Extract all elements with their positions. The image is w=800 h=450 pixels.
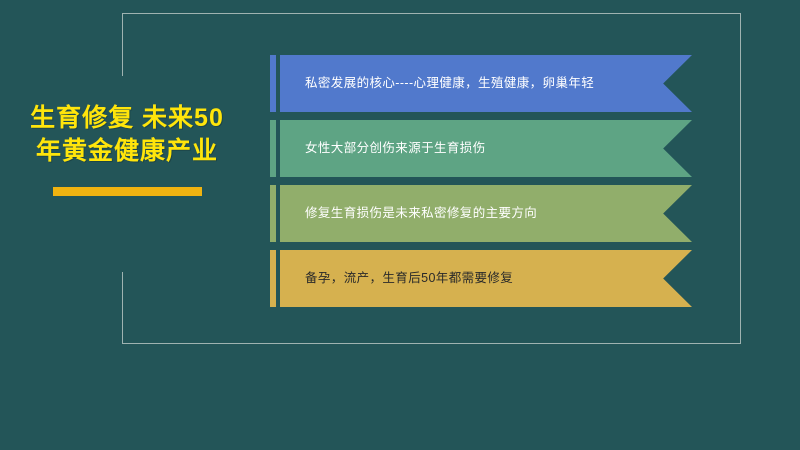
presentation-slide: 生育修复 未来50年黄金健康产业 私密发展的核心----心理健康，生殖健康，卵巢… [0, 0, 800, 450]
ribbon-label: 备孕，流产，生育后50年都需要修复 [280, 271, 513, 286]
ribbon-tab-accent [270, 185, 276, 242]
slide-title: 生育修复 未来50年黄金健康产业 [22, 102, 232, 168]
ribbon-label: 女性大部分创伤来源于生育损伤 [280, 141, 486, 156]
ribbon-tab-accent [270, 55, 276, 112]
ribbon-banner[interactable]: 修复生育损伤是未来私密修复的主要方向 [270, 185, 695, 242]
frame-border-top [122, 13, 741, 14]
ribbon-body: 备孕，流产，生育后50年都需要修复 [280, 250, 692, 307]
ribbon-body: 私密发展的核心----心理健康，生殖健康，卵巢年轻 [280, 55, 692, 112]
slide-title-block: 生育修复 未来50年黄金健康产业 [22, 102, 232, 196]
ribbon-banner-list: 私密发展的核心----心理健康，生殖健康，卵巢年轻 女性大部分创伤来源于生育损伤… [270, 55, 695, 315]
frame-border-left-lower [122, 272, 123, 344]
ribbon-banner[interactable]: 女性大部分创伤来源于生育损伤 [270, 120, 695, 177]
title-underline-bar [53, 187, 202, 196]
frame-border-right [740, 13, 741, 344]
ribbon-tab-accent [270, 250, 276, 307]
ribbon-banner[interactable]: 备孕，流产，生育后50年都需要修复 [270, 250, 695, 307]
ribbon-body: 修复生育损伤是未来私密修复的主要方向 [280, 185, 692, 242]
ribbon-label: 修复生育损伤是未来私密修复的主要方向 [280, 206, 537, 221]
frame-border-bottom [122, 343, 741, 344]
ribbon-banner[interactable]: 私密发展的核心----心理健康，生殖健康，卵巢年轻 [270, 55, 695, 112]
frame-border-left-upper [122, 13, 123, 76]
ribbon-tab-accent [270, 120, 276, 177]
ribbon-label: 私密发展的核心----心理健康，生殖健康，卵巢年轻 [280, 76, 594, 91]
ribbon-body: 女性大部分创伤来源于生育损伤 [280, 120, 692, 177]
